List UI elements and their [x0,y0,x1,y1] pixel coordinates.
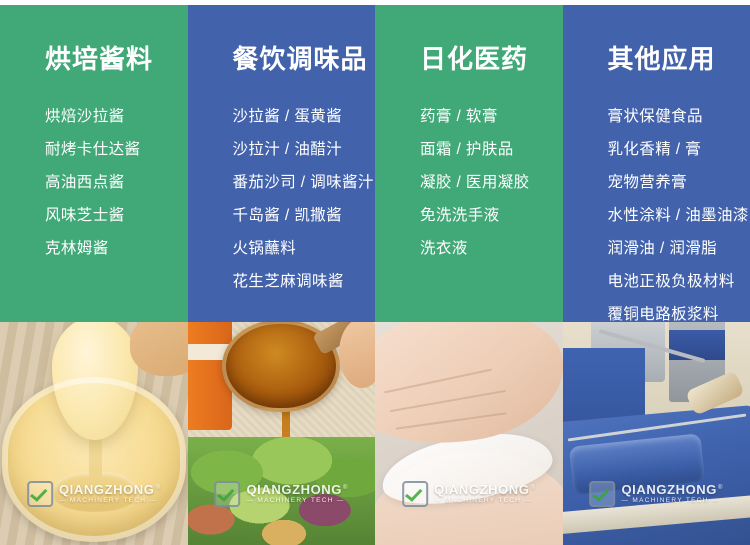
list-item: 高油西点酱 [45,166,182,199]
list-item: 润滑油 / 润滑脂 [608,232,745,265]
panel-list-other: 膏状保健食品 乳化香精 / 膏 宠物营养膏 水性涂料 / 油墨油漆 润滑油 / … [608,100,745,331]
list-item: 风味芝士酱 [45,199,182,232]
list-item: 洗衣液 [420,232,557,265]
application-panel-pharma[interactable]: 日化医药 药膏 / 软膏 面霜 / 护肤品 凝胶 / 医用凝胶 免洗洗手液 洗衣… [375,5,563,322]
photo-blue-paint: QIANGZHONG® MACHINERY TECH [563,322,750,545]
list-item: 免洗洗手液 [420,199,557,232]
salad-bowl-shape [188,437,376,545]
panel-title-other: 其他应用 [608,45,716,74]
application-photo-band: QIANGZHONG® MACHINERY TECH QIANGZHONG® M… [0,322,750,545]
list-item: 宠物营养膏 [608,166,745,199]
panel-title-baking: 烘培酱料 [45,45,153,74]
application-panel-band: 烘培酱料 烘焙沙拉酱 耐烤卡仕达酱 高油西点酱 风味芝士酱 克林姆酱 餐饮调味品… [0,5,750,322]
list-item: 膏状保健食品 [608,100,745,133]
list-item: 克林姆酱 [45,232,182,265]
application-panel-catering[interactable]: 餐饮调味品 沙拉酱 / 蛋黄酱 沙拉汁 / 油醋汁 番茄沙司 / 调味酱汁 千岛… [188,5,376,322]
list-item: 凝胶 / 医用凝胶 [420,166,557,199]
photo-cream-sauce: QIANGZHONG® MACHINERY TECH [0,322,188,545]
list-item: 沙拉汁 / 油醋汁 [233,133,370,166]
list-item: 千岛酱 / 凯撒酱 [233,199,370,232]
panel-list-catering: 沙拉酱 / 蛋黄酱 沙拉汁 / 油醋汁 番茄沙司 / 调味酱汁 千岛酱 / 凯撒… [233,100,370,298]
list-item: 电池正极负极材料 [608,265,745,298]
list-item: 烘焙沙拉酱 [45,100,182,133]
list-item: 沙拉酱 / 蛋黄酱 [233,100,370,133]
photo-salad-dressing: QIANGZHONG® MACHINERY TECH [188,322,376,545]
panel-list-baking: 烘焙沙拉酱 耐烤卡仕达酱 高油西点酱 风味芝士酱 克林姆酱 [45,100,182,265]
glass-bowl-rim [2,377,186,542]
list-item: 火锅蘸料 [233,232,370,265]
list-item: 药膏 / 软膏 [420,100,557,133]
list-item: 面霜 / 护肤品 [420,133,557,166]
list-item: 耐烤卡仕达酱 [45,133,182,166]
list-item: 水性涂料 / 油墨油漆 [608,199,745,232]
application-showcase-page: 烘培酱料 烘焙沙拉酱 耐烤卡仕达酱 高油西点酱 风味芝士酱 克林姆酱 餐饮调味品… [0,0,750,545]
panel-title-catering: 餐饮调味品 [233,45,368,74]
list-item: 乳化香精 / 膏 [608,133,745,166]
list-item: 花生芝麻调味酱 [233,265,370,298]
panel-title-pharma: 日化医药 [420,45,528,74]
list-item: 番茄沙司 / 调味酱汁 [233,166,370,199]
photo-skin-cream: QIANGZHONG® MACHINERY TECH [375,322,563,545]
panel-list-pharma: 药膏 / 软膏 面霜 / 护肤品 凝胶 / 医用凝胶 免洗洗手液 洗衣液 [420,100,557,265]
application-panel-baking[interactable]: 烘培酱料 烘焙沙拉酱 耐烤卡仕达酱 高油西点酱 风味芝士酱 克林姆酱 [0,5,188,322]
application-panel-other[interactable]: 其他应用 膏状保健食品 乳化香精 / 膏 宠物营养膏 水性涂料 / 油墨油漆 润… [563,5,750,322]
